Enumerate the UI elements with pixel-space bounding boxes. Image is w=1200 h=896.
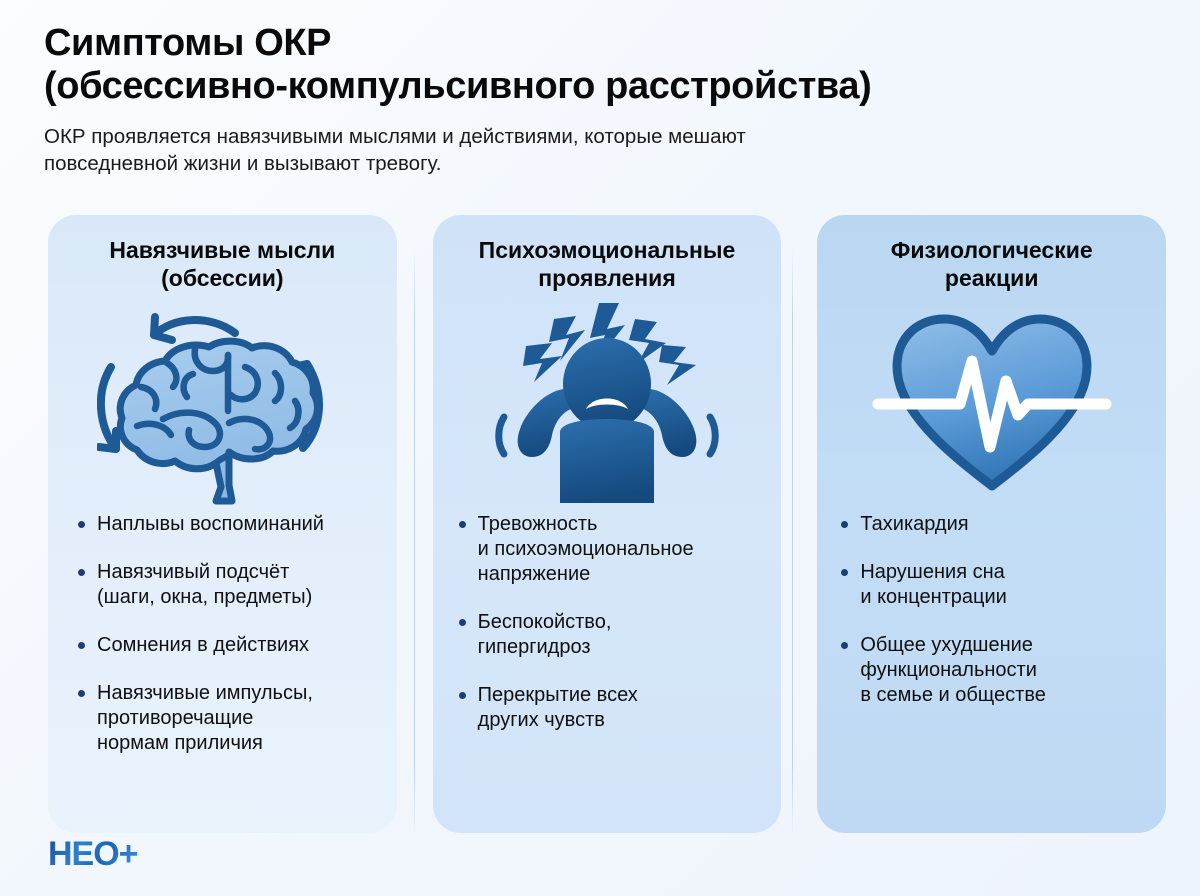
page-title-line-2: (обсессивно-компульсивного расстройства) [44, 65, 1164, 108]
bullet-item: Сомнения в действиях [76, 633, 371, 658]
icon-container [433, 294, 782, 512]
icon-container [48, 294, 397, 512]
header: Симптомы ОКР (обсессивно-компульсивного … [44, 22, 1164, 178]
bullet-line: Перекрытие всех [478, 683, 756, 708]
bullet-item: Наплывы воспоминаний [76, 512, 371, 537]
card-divider-2 [792, 248, 793, 838]
bullet-item: Нарушения сна и концентрации [839, 560, 1140, 610]
bullet-line: Нарушения сна [860, 560, 1140, 585]
card-title-line-1: Психоэмоциональные [479, 237, 736, 265]
bullet-dot-icon [459, 619, 466, 626]
heart-pulse-icon [872, 303, 1112, 503]
card-title-psychoemotional: Психоэмоциональные проявления [479, 237, 736, 292]
card-title-physiological: Физиологические реакции [891, 237, 1093, 292]
bullet-dot-icon [459, 521, 466, 528]
bullet-list-psychoemotional: Тревожность и психоэмоциональное напряже… [433, 512, 782, 733]
card-title-line-1: Навязчивые мысли [109, 237, 335, 265]
card-physiological: Физиологические реакции [817, 215, 1166, 833]
bullet-line: (шаги, окна, предметы) [97, 585, 371, 610]
page-title: Симптомы ОКР (обсессивно-компульсивного … [44, 22, 1164, 109]
infographic-page: Симптомы ОКР (обсессивно-компульсивного … [0, 0, 1200, 896]
card-title-line-2: проявления [479, 265, 736, 293]
bullet-line: напряжение [478, 562, 756, 587]
bullet-item: Тахикардия [839, 512, 1140, 537]
card-psychoemotional: Психоэмоциональные проявления [433, 215, 782, 833]
bullet-line: Навязчивые импульсы, [97, 681, 371, 706]
card-title-line-2: реакции [891, 265, 1093, 293]
bullet-line: гипергидроз [478, 635, 756, 660]
bullet-dot-icon [78, 521, 85, 528]
bullet-item: Навязчивые импульсы, противоречащие норм… [76, 681, 371, 756]
symptom-cards-row: Навязчивые мысли (обсессии) [48, 215, 1166, 833]
page-subtitle-line-1: ОКР проявляется навязчивыми мыслями и де… [44, 123, 1064, 150]
bullet-line: функциональности [860, 658, 1140, 683]
bullet-line: Общее ухудшение [860, 633, 1140, 658]
card-obsessive-thoughts: Навязчивые мысли (обсессии) [48, 215, 397, 833]
card-title-line-1: Физиологические [891, 237, 1093, 265]
card-divider-1 [414, 248, 415, 838]
stressed-person-icon [490, 299, 725, 507]
bullet-line: противоречащие [97, 706, 371, 731]
bullet-dot-icon [459, 692, 466, 699]
bullet-line: Сомнения в действиях [97, 633, 371, 658]
bullet-item: Беспокойство, гипергидроз [457, 610, 756, 660]
bullet-item: Тревожность и психоэмоциональное напряже… [457, 512, 756, 587]
bullet-line: Наплывы воспоминаний [97, 512, 371, 537]
bullet-dot-icon [841, 569, 848, 576]
bullet-line: и концентрации [860, 585, 1140, 610]
bullet-list-physiological: Тахикардия Нарушения сна и концентрации … [817, 512, 1166, 708]
bullet-line: в семье и обществе [860, 683, 1140, 708]
bullet-line: Тревожность [478, 512, 756, 537]
brand-logo: НЕО+ [48, 834, 138, 874]
bullet-list-obsessive-thoughts: Наплывы воспоминаний Навязчивый подсчёт … [48, 512, 397, 756]
bullet-line: нормам приличия [97, 731, 371, 756]
bullet-dot-icon [78, 690, 85, 697]
bullet-item: Перекрытие всех других чувств [457, 683, 756, 733]
bullet-item: Навязчивый подсчёт (шаги, окна, предметы… [76, 560, 371, 610]
card-title-obsessive-thoughts: Навязчивые мысли (обсессии) [109, 237, 335, 292]
bullet-dot-icon [78, 642, 85, 649]
bullet-line: других чувств [478, 708, 756, 733]
bullet-line: Тахикардия [860, 512, 1140, 537]
bullet-line: и психоэмоциональное [478, 537, 756, 562]
bullet-item: Общее ухудшение функциональности в семье… [839, 633, 1140, 708]
card-title-line-2: (обсессии) [109, 265, 335, 293]
brain-cycle-icon [97, 301, 347, 506]
icon-container [817, 294, 1166, 512]
bullet-dot-icon [841, 642, 848, 649]
brand-logo-text: НЕО+ [48, 837, 138, 871]
bullet-dot-icon [841, 521, 848, 528]
bullet-dot-icon [78, 569, 85, 576]
page-subtitle-line-2: повседневной жизни и вызывают тревогу. [44, 150, 1064, 177]
page-title-line-1: Симптомы ОКР [44, 22, 1164, 65]
bullet-line: Беспокойство, [478, 610, 756, 635]
bullet-line: Навязчивый подсчёт [97, 560, 371, 585]
page-subtitle: ОКР проявляется навязчивыми мыслями и де… [44, 123, 1064, 178]
